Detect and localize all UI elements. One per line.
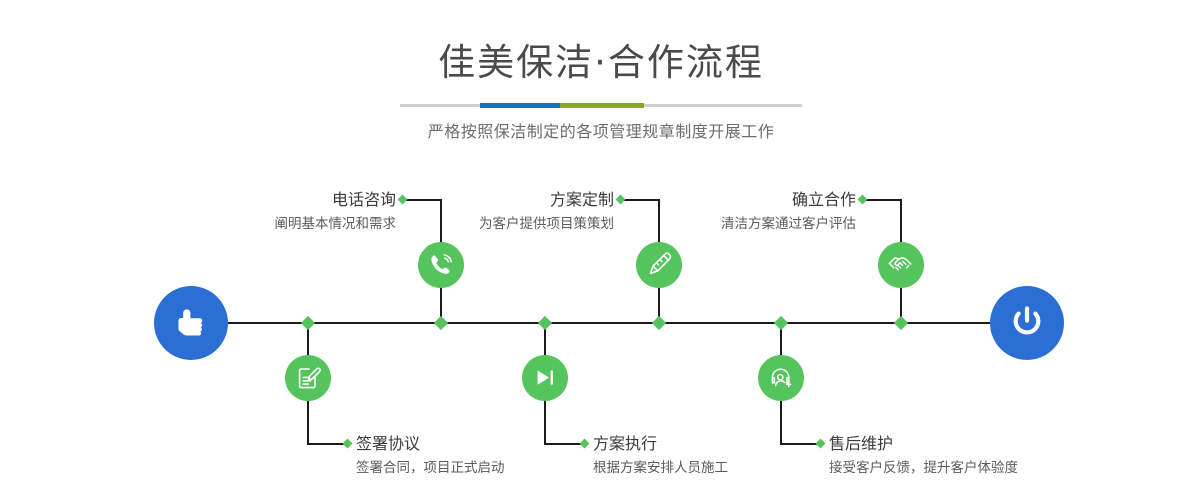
connector-h-bottom-1 bbox=[307, 443, 347, 445]
step-label-bottom-2: 方案执行 根据方案安排人员施工 bbox=[593, 434, 728, 478]
play-skip-icon bbox=[532, 365, 558, 391]
step-label-top-1: 电话咨询 阐明基本情况和需求 bbox=[275, 190, 397, 234]
pencil-edit-icon bbox=[645, 251, 673, 279]
step-icon-top-3[interactable] bbox=[878, 242, 924, 288]
label-marker-top-3 bbox=[858, 195, 868, 205]
step-desc: 接受客户反馈，提升客户体验度 bbox=[829, 459, 1018, 478]
step-desc: 签署合同，项目正式启动 bbox=[356, 459, 505, 478]
step-desc: 根据方案安排人员施工 bbox=[593, 459, 728, 478]
power-icon bbox=[1006, 302, 1048, 344]
step-label-top-3: 确立合作 清洁方案通过客户评估 bbox=[721, 190, 856, 234]
label-marker-bottom-3 bbox=[816, 439, 826, 449]
connector-h-top-1 bbox=[405, 199, 441, 201]
step-label-bottom-3: 售后维护 接受客户反馈，提升客户体验度 bbox=[829, 434, 1018, 478]
flow-diagram: 电话咨询 阐明基本情况和需求 方案定制 为客户提供项目策策划 bbox=[0, 0, 1202, 502]
step-desc: 为客户提供项目策策划 bbox=[479, 215, 614, 234]
label-marker-top-2 bbox=[616, 195, 626, 205]
step-icon-top-1[interactable] bbox=[418, 242, 464, 288]
pointing-hand-icon bbox=[171, 303, 211, 343]
step-title: 方案定制 bbox=[479, 190, 614, 210]
headset-support-icon bbox=[768, 365, 794, 391]
label-marker-bottom-1 bbox=[343, 439, 353, 449]
step-icon-top-2[interactable] bbox=[636, 242, 682, 288]
step-desc: 清洁方案通过客户评估 bbox=[721, 215, 856, 234]
axis-marker-top-2 bbox=[652, 316, 666, 330]
connector-h-bottom-2 bbox=[544, 443, 584, 445]
connector-h-bottom-3 bbox=[780, 443, 820, 445]
cooperation-flow-infographic: 佳美保洁·合作流程 严格按照保洁制定的各项管理规章制度开展工作 bbox=[0, 0, 1202, 502]
label-marker-top-1 bbox=[398, 195, 408, 205]
axis-marker-top-1 bbox=[434, 316, 448, 330]
axis-marker-top-3 bbox=[894, 316, 908, 330]
step-label-bottom-1: 签署协议 签署合同，项目正式启动 bbox=[356, 434, 505, 478]
step-label-top-2: 方案定制 为客户提供项目策策划 bbox=[479, 190, 614, 234]
step-icon-bottom-1[interactable] bbox=[285, 355, 331, 401]
connector-h-top-3 bbox=[865, 199, 901, 201]
step-desc: 阐明基本情况和需求 bbox=[275, 215, 397, 234]
step-title: 售后维护 bbox=[829, 434, 1018, 454]
step-icon-bottom-3[interactable] bbox=[758, 355, 804, 401]
axis-marker-bottom-2 bbox=[538, 316, 552, 330]
flow-end-endpoint[interactable] bbox=[990, 286, 1064, 360]
step-title: 确立合作 bbox=[721, 190, 856, 210]
step-icon-bottom-2[interactable] bbox=[522, 355, 568, 401]
flow-start-endpoint[interactable] bbox=[154, 286, 228, 360]
label-marker-bottom-2 bbox=[580, 439, 590, 449]
axis-marker-bottom-1 bbox=[301, 316, 315, 330]
step-title: 方案执行 bbox=[593, 434, 728, 454]
step-title: 电话咨询 bbox=[275, 190, 397, 210]
handshake-icon bbox=[887, 251, 915, 279]
connector-h-top-2 bbox=[623, 199, 659, 201]
document-edit-icon bbox=[295, 365, 321, 391]
phone-call-icon bbox=[427, 251, 455, 279]
step-title: 签署协议 bbox=[356, 434, 505, 454]
axis-marker-bottom-3 bbox=[774, 316, 788, 330]
